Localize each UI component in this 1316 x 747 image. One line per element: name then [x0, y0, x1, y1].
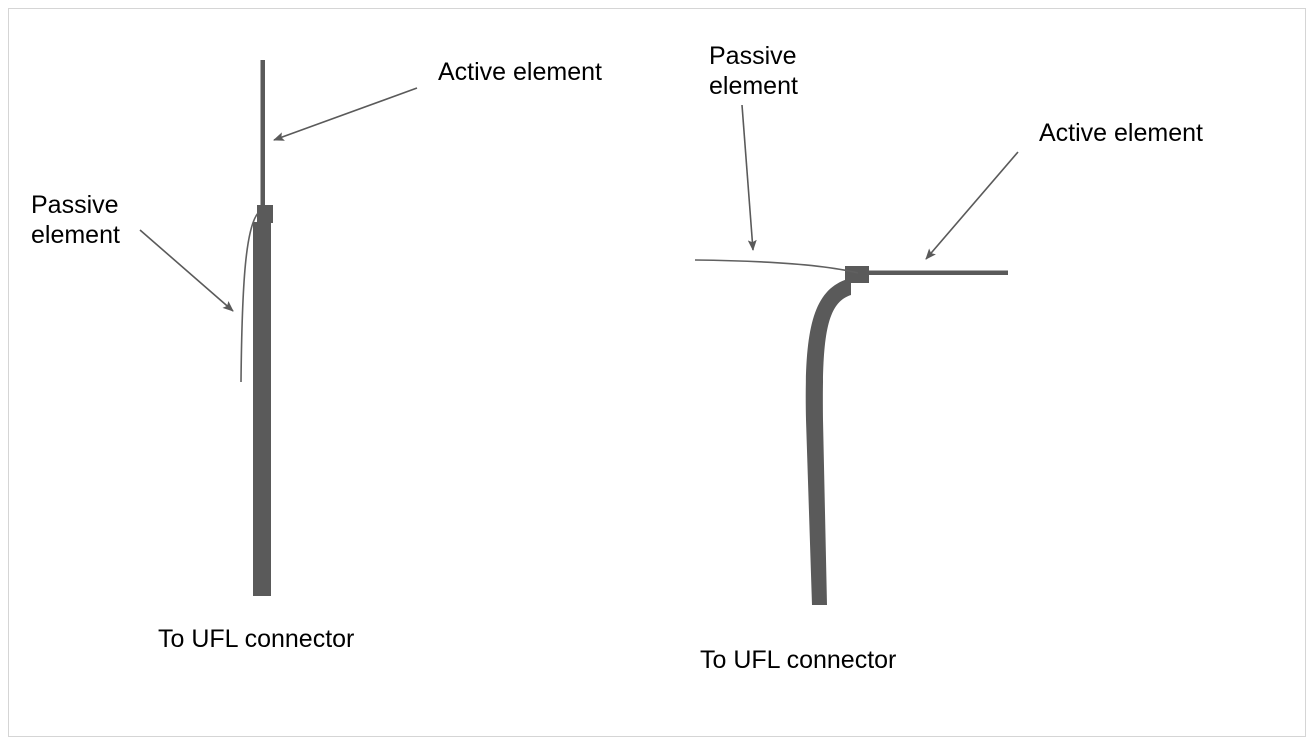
figure-canvas: Active element Passive element To UFL co…: [0, 0, 1316, 747]
left-cable-body: [253, 222, 271, 596]
left-passive-element-label-line2: element: [31, 220, 120, 250]
right-ufl-connector-caption: To UFL connector: [700, 645, 896, 675]
right-cable-body: [806, 278, 851, 605]
right-active-leader-line: [926, 152, 1018, 259]
left-passive-leader-line: [140, 230, 233, 311]
right-antenna-group: [695, 105, 1018, 605]
right-active-element: [867, 271, 1008, 276]
left-active-leader-line: [274, 88, 417, 140]
right-passive-leader-line: [742, 105, 753, 250]
right-connector-ferrule: [845, 266, 869, 283]
right-passive-element-wire: [695, 260, 858, 273]
left-active-element: [261, 60, 266, 206]
right-passive-element-label-line2: element: [709, 71, 798, 101]
right-active-element-label: Active element: [1039, 118, 1203, 148]
left-ufl-connector-caption: To UFL connector: [158, 624, 354, 654]
left-passive-element-label-line1: Passive: [31, 190, 119, 220]
left-active-element-label: Active element: [438, 57, 602, 87]
right-passive-element-label-line1: Passive: [709, 41, 797, 71]
left-connector-ferrule: [257, 205, 273, 223]
left-antenna-group: [140, 60, 417, 596]
